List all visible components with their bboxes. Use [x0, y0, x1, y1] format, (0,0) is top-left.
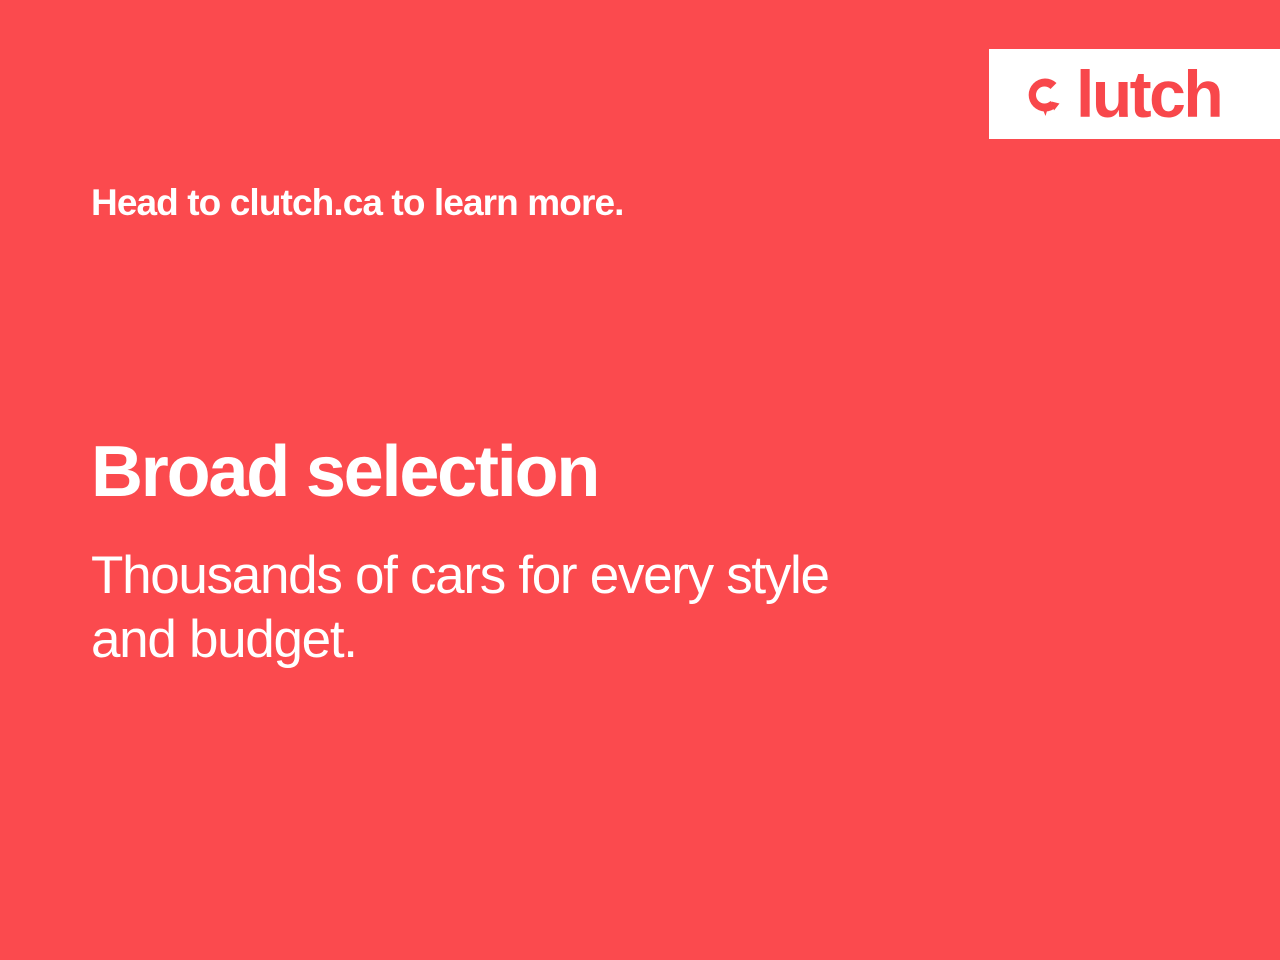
brand-logo-plate: lutch [989, 49, 1280, 139]
clutch-logo: lutch [1020, 70, 1221, 119]
clutch-wordmark: lutch [1076, 70, 1221, 119]
subhead-line-2: and budget. [91, 608, 1071, 672]
clutch-c-steering-wheel-mark [1020, 70, 1070, 120]
promo-slide: lutch Head to clutch.ca to learn more. B… [0, 0, 1280, 960]
page-title: Broad selection [91, 435, 598, 511]
eyebrow-text: Head to clutch.ca to learn more. [91, 181, 624, 225]
subhead-line-1: Thousands of cars for every style [91, 544, 1071, 608]
subhead-text: Thousands of cars for every style and bu… [91, 544, 1071, 671]
